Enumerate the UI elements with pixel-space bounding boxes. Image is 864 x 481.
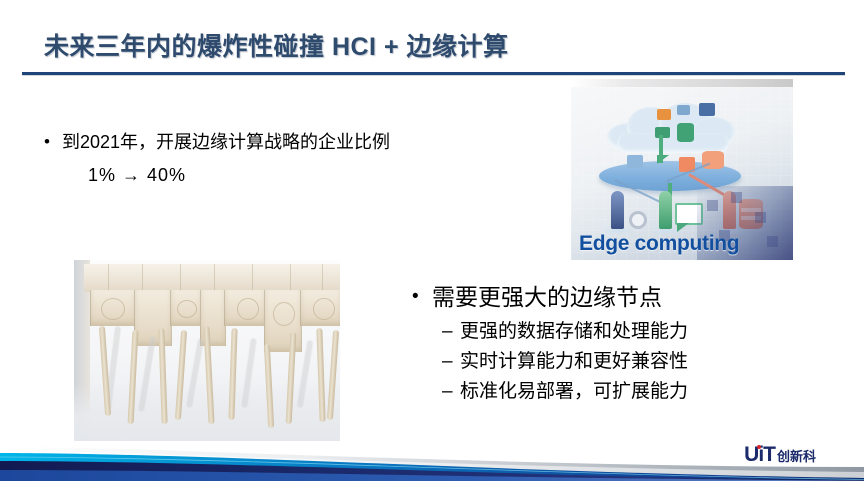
user-figure-blue	[611, 191, 624, 229]
dash-bullet-icon: –	[442, 317, 460, 347]
edge-computing-illustration: Edge computing	[571, 87, 793, 260]
list-item: – 更强的数据存储和处理能力	[442, 317, 812, 347]
title-divider-shadow	[22, 75, 845, 76]
slide-canvas: 未来三年内的爆炸性碰撞 HCI + 边缘计算 • 到2021年，开展边缘计算战略…	[0, 0, 864, 481]
cloud-chip-icon	[657, 109, 671, 120]
smartwatch-icon	[629, 211, 647, 229]
brand-logo: UiT 创新科	[744, 443, 816, 467]
edge-triangle-icon	[677, 223, 689, 232]
disk-chip-icon	[627, 155, 643, 168]
bullet-block-top: • 到2021年，开展边缘计算战略的企业比例 1% → 40%	[44, 128, 554, 188]
beam-end-block	[224, 290, 266, 326]
dash-bullet-icon: –	[442, 377, 460, 407]
logo-chinese-name: 创新科	[777, 446, 816, 465]
list-item-label: 标准化易部署，可扩展能力	[460, 377, 688, 407]
footer-wave-svg	[0, 441, 864, 481]
logo-wordmark: UiT	[744, 443, 775, 467]
bullet-item: • 到2021年，开展边缘计算战略的企业比例	[44, 128, 554, 156]
wooden-beams-photo	[74, 260, 340, 443]
edge-computing-caption: Edge computing	[579, 232, 739, 256]
cloud-chip-icon	[677, 105, 690, 115]
bullet-text: 到2021年，开展边缘计算战略的企业比例	[62, 128, 390, 156]
bullet-dot-icon: •	[44, 128, 62, 156]
cloud-database-icon	[677, 123, 694, 142]
page-title: 未来三年内的爆炸性碰撞 HCI + 边缘计算	[44, 27, 509, 63]
bullet-item: • 需要更强大的边缘节点	[412, 281, 812, 313]
bullet-dot-icon: •	[412, 281, 432, 313]
bullet-block-bottom: • 需要更强大的边缘节点 – 更强的数据存储和处理能力 – 实时计算能力和更好兼…	[412, 281, 812, 407]
logo-dot-icon	[757, 445, 761, 449]
bullet-heading: 需要更强大的边缘节点	[432, 281, 662, 313]
sub-bullet-list: – 更强的数据存储和处理能力 – 实时计算能力和更好兼容性 – 标准化易部署，可…	[442, 317, 812, 407]
user-figure-green	[659, 191, 672, 229]
beam-end-block	[264, 290, 302, 352]
list-item: – 标准化易部署，可扩展能力	[442, 377, 812, 407]
beam-end-block	[300, 290, 340, 326]
beam-top-surface	[84, 264, 340, 292]
uplink-arrow-icon	[659, 135, 663, 163]
footer-wave-decoration: UiT 创新科	[0, 441, 864, 481]
beam-end-block	[170, 290, 202, 326]
list-item-label: 实时计算能力和更好兼容性	[460, 347, 688, 377]
cloud-chip-icon	[699, 103, 715, 116]
cloud-shape-icon	[607, 103, 735, 151]
ratio-text: 1% → 40%	[88, 162, 554, 188]
list-item: – 实时计算能力和更好兼容性	[442, 347, 812, 377]
list-item-label: 更强的数据存储和处理能力	[460, 317, 688, 347]
beam-end-block	[90, 290, 136, 326]
dash-bullet-icon: –	[442, 347, 460, 377]
